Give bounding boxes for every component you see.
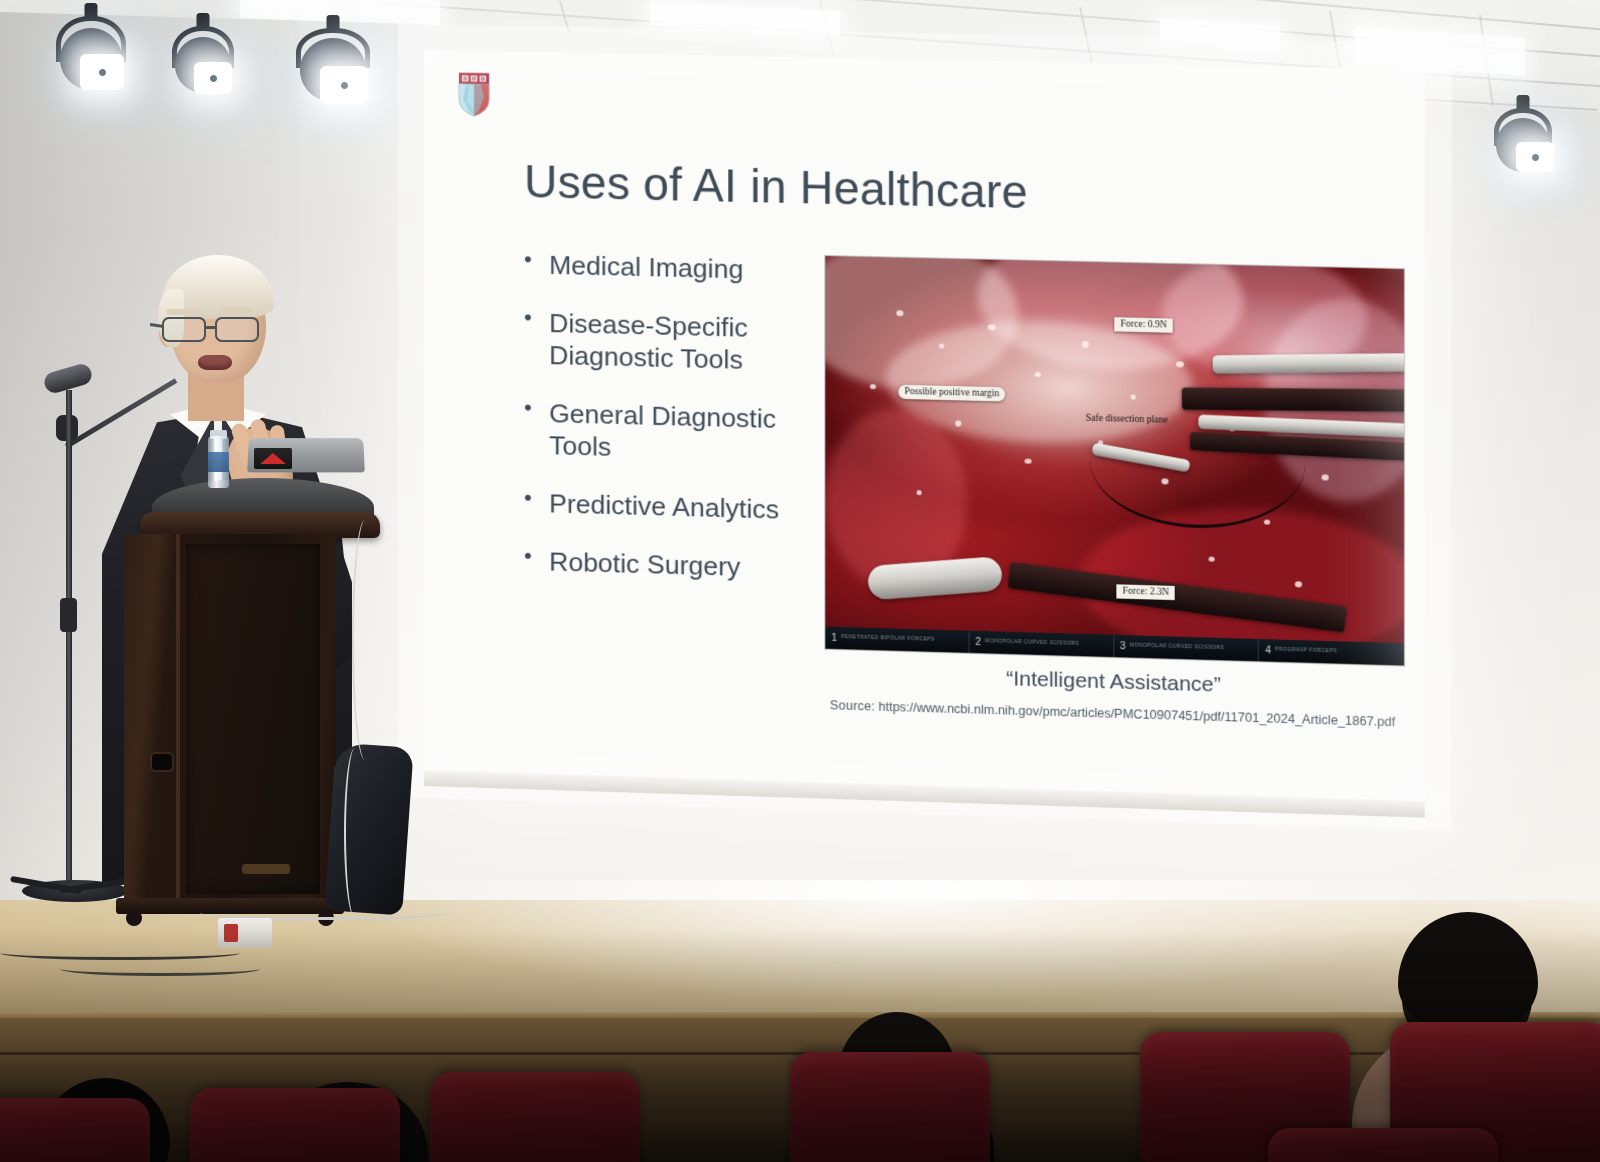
mouth (198, 355, 232, 370)
robotic-surgery-photo: Possible positive margin Force: 0.9N Saf… (824, 255, 1405, 667)
bullet-item: Disease-Specific Diagnostic Tools (522, 306, 824, 378)
tool-cell: 4 PROGRASP FORCEPS (1259, 639, 1404, 666)
auditorium-seat (430, 1072, 640, 1162)
floor-cable (60, 962, 260, 976)
stage-spotlight-1 (56, 16, 126, 62)
ceiling-light-panel (1160, 18, 1280, 48)
mic-height-collar (60, 598, 77, 632)
tool-label: PROGRASP FORCEPS (1275, 648, 1337, 656)
bullet-item: Medical Imaging (522, 248, 824, 287)
podium-front-panel (186, 544, 320, 894)
bullet-item: General Diagnostic Tools (522, 397, 824, 469)
tool-cell: 2 MONOPOLAR CURVED SCISSORS (969, 631, 1114, 657)
bottle-label (208, 452, 229, 472)
lecture-hall-scene: Uses of AI in Healthcare Medical Imaging… (0, 0, 1600, 1162)
tool-cell: 1 PENETRATED BIPOLAR FORCEPS (825, 627, 969, 653)
tool-number: 4 (1265, 645, 1271, 656)
eyebrow (220, 307, 254, 313)
stage-spotlight-3 (296, 28, 370, 68)
slide-bullet-list: Medical Imaging Disease-Specific Diagnos… (522, 248, 824, 612)
podium-caster (126, 910, 142, 926)
eyeglasses (158, 317, 274, 343)
laptop-sticker (254, 448, 292, 469)
surgical-instrument (1212, 353, 1405, 373)
annotation-force-23n: Force: 2.3N (1116, 584, 1175, 600)
mic-pole (66, 390, 72, 895)
source-url: https://www.ncbi.nlm.nih.gov/pmc/article… (879, 700, 1396, 730)
annotation-force-09n: Force: 0.9N (1114, 317, 1173, 333)
tool-number: 2 (975, 636, 981, 647)
stage-spotlight-2 (172, 26, 234, 68)
projection-screen: Uses of AI in Healthcare Medical Imaging… (424, 50, 1425, 803)
slide-title: Uses of AI in Healthcare (524, 154, 1028, 219)
backpack (324, 742, 414, 915)
podium-body (124, 534, 336, 906)
auditorium-seat (790, 1052, 990, 1162)
annotation-possible-positive-margin: Possible positive margin (898, 385, 1005, 402)
auditorium-seat (0, 1098, 150, 1162)
tool-label: PENETRATED BIPOLAR FORCEPS (841, 635, 935, 644)
tool-label: MONOPOLAR CURVED SCISSORS (985, 639, 1079, 648)
bullet-item: Robotic Surgery (522, 545, 824, 586)
harvard-medical-school-shield-icon (457, 71, 491, 119)
tool-label: MONOPOLAR CURVED SCISSORS (1130, 644, 1224, 653)
stage-light-reflection (360, 880, 1460, 1000)
power-cable (352, 520, 378, 760)
floor-cable (0, 946, 240, 960)
podium-brand-plate (242, 864, 290, 874)
presentation-slide: Uses of AI in Healthcare Medical Imaging… (424, 50, 1425, 803)
tool-number: 3 (1120, 641, 1126, 652)
power-cable (344, 748, 366, 918)
bullet-item: Predictive Analytics (522, 487, 824, 527)
ceiling-light-panel (650, 1, 840, 35)
eyebrow (166, 309, 204, 315)
tool-number: 1 (831, 632, 837, 643)
auditorium-seat (1268, 1128, 1498, 1162)
annotation-safe-dissection-plane: Safe dissection plane (1080, 411, 1174, 428)
source-label: Source: (830, 698, 875, 713)
stage-spotlight-4 (1494, 108, 1552, 146)
auditorium-seat (190, 1088, 400, 1162)
floor-box-indicator (224, 924, 238, 942)
podium-cable-port (152, 754, 172, 770)
tool-cell: 3 MONOPOLAR CURVED SCISSORS (1114, 635, 1259, 661)
source-line: Source: https://www.ncbi.nlm.nih.gov/pmc… (756, 696, 1425, 732)
figure-caption: “Intelligent Assistance” (824, 662, 1405, 703)
